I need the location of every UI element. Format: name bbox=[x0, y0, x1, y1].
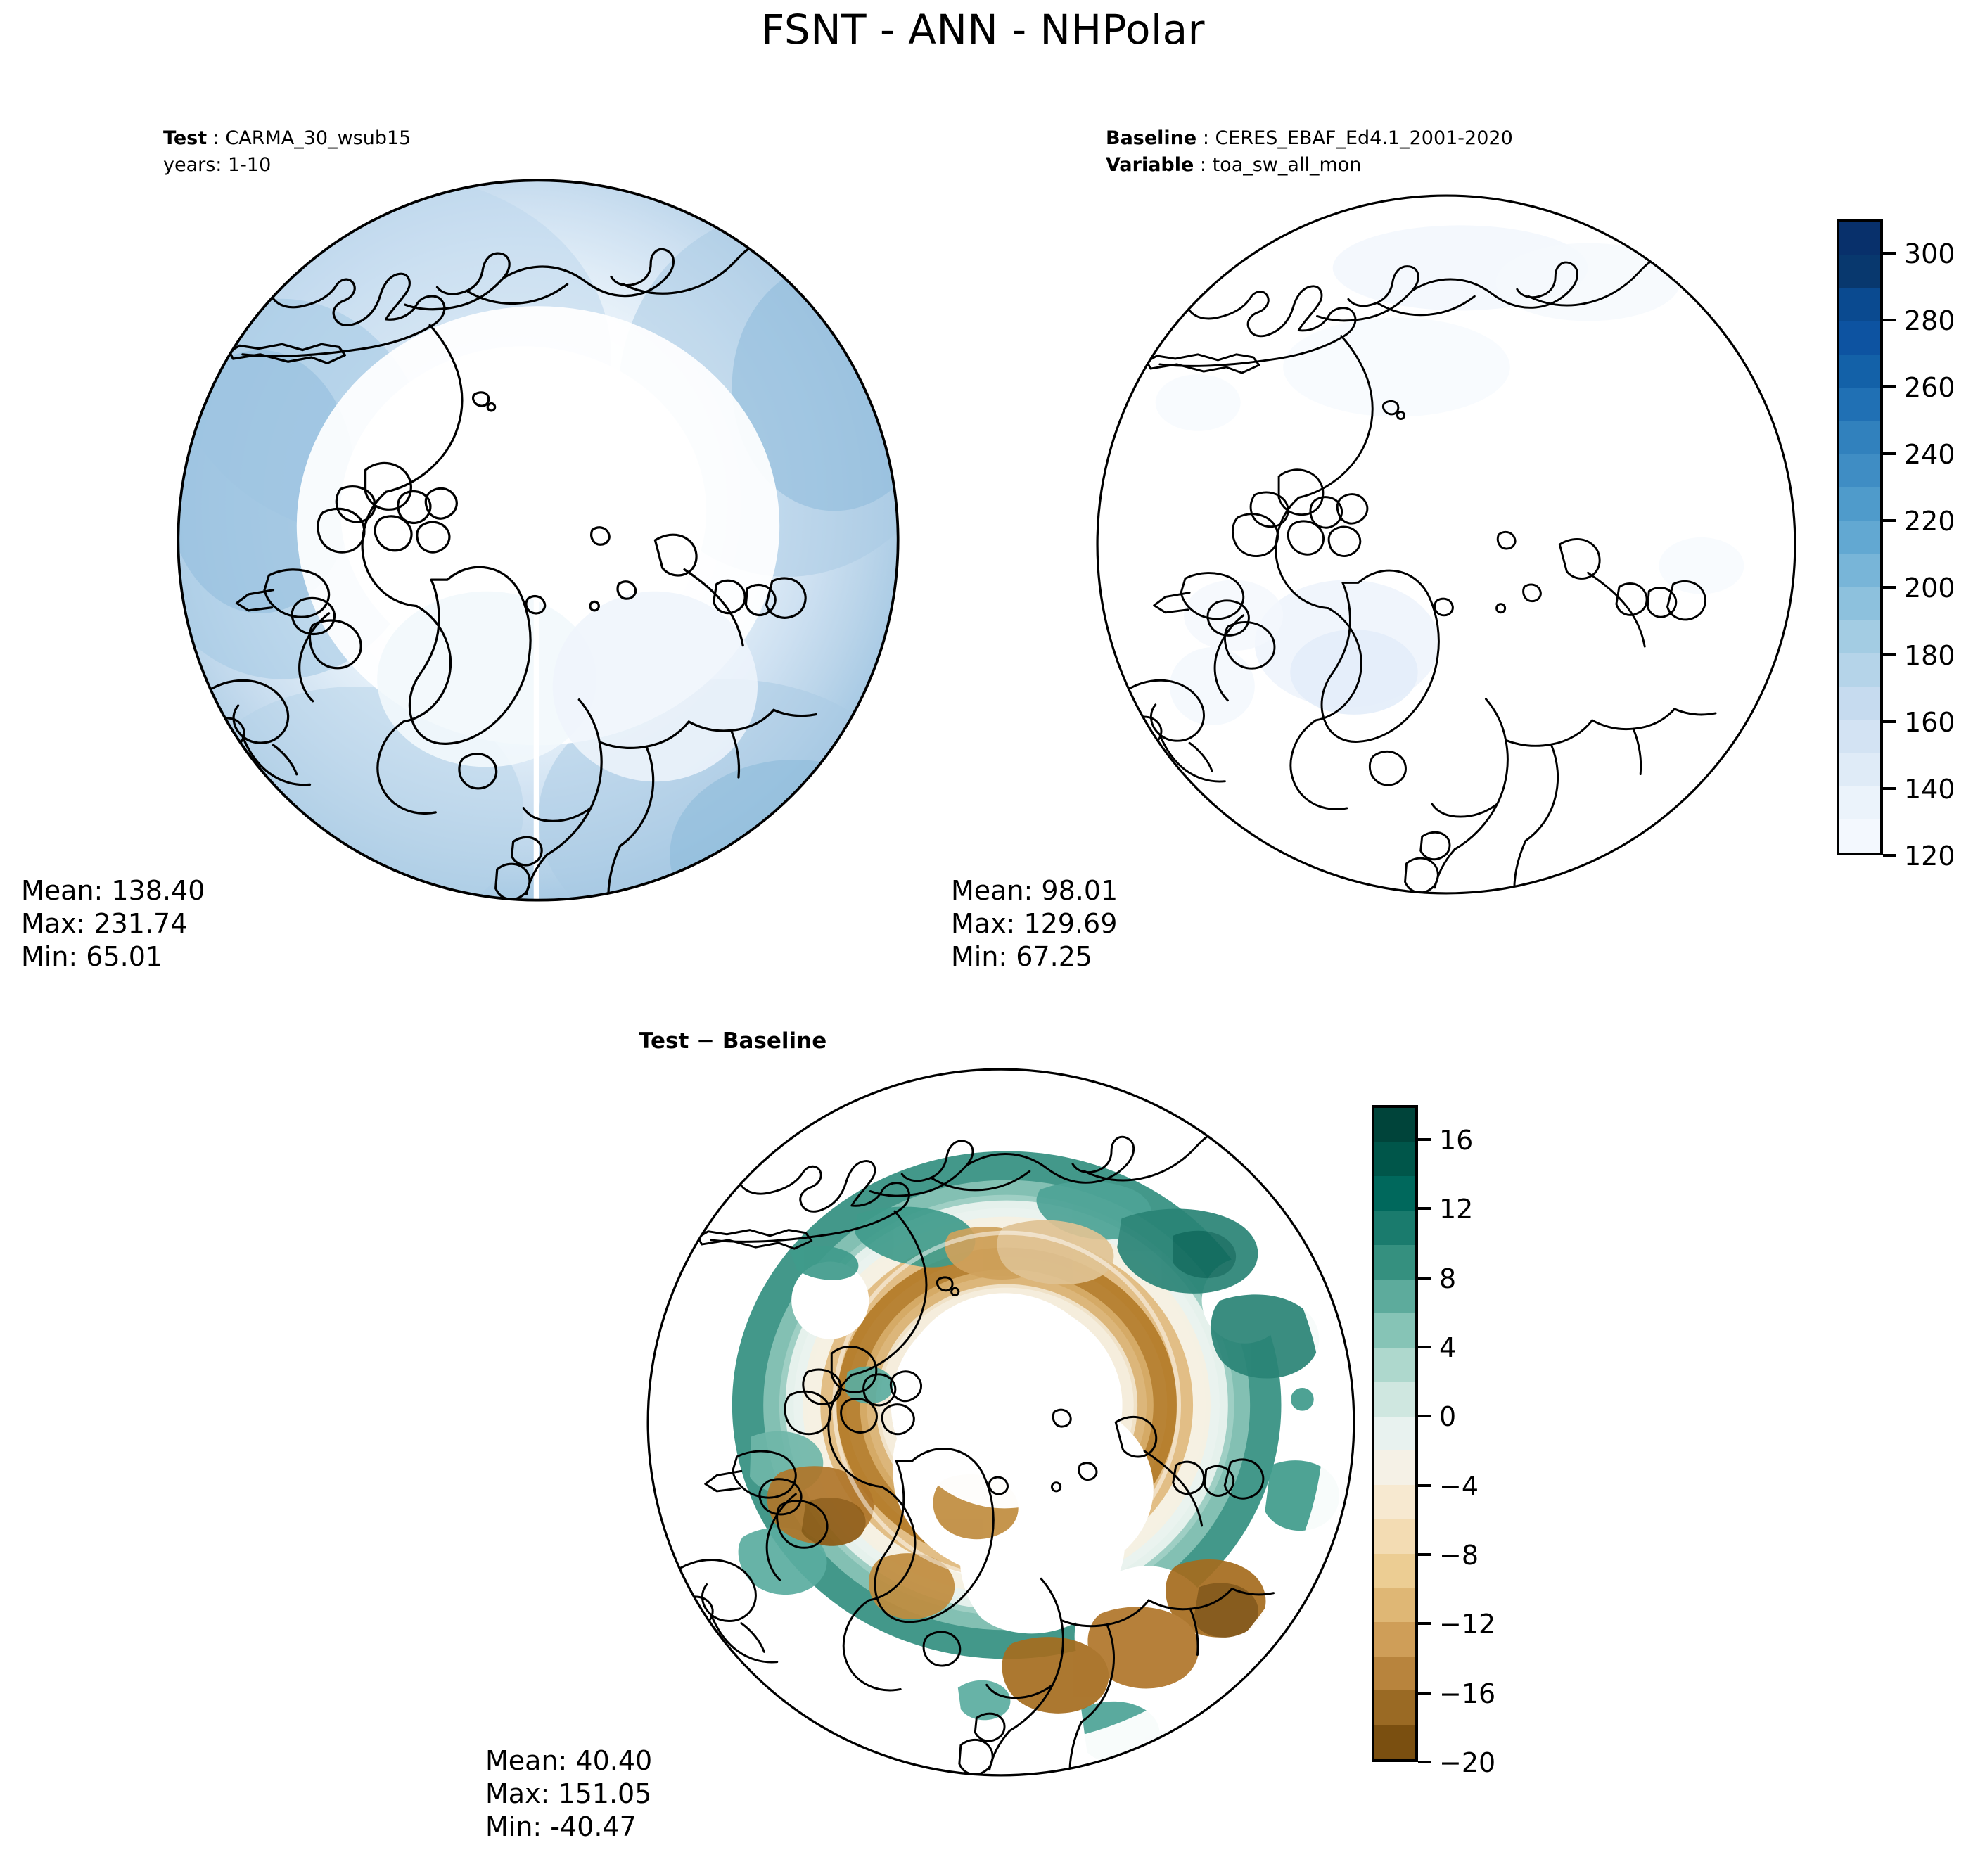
baseline-variable-sep: : bbox=[1194, 154, 1212, 176]
colorbar-tick-label: −20 bbox=[1439, 1749, 1495, 1776]
colorbar-tick-mark bbox=[1883, 319, 1896, 321]
colorbar-tick-mark bbox=[1883, 653, 1896, 656]
colorbar-tick-label: 180 bbox=[1904, 642, 1955, 669]
colorbar-band bbox=[1374, 1211, 1415, 1245]
page-title: FSNT - ANN - NHPolar bbox=[0, 6, 1966, 53]
colorbar-band bbox=[1374, 1725, 1415, 1759]
colorbar-diff-bar bbox=[1372, 1105, 1418, 1762]
colorbar-band bbox=[1374, 1622, 1415, 1657]
baseline-variable-value: toa_sw_all_mon bbox=[1213, 154, 1362, 176]
colorbar-band bbox=[1839, 255, 1880, 288]
colorbar-band bbox=[1374, 1108, 1415, 1142]
stats-baseline-min: Min: 67.25 bbox=[951, 940, 1118, 974]
colorbar-tick-label: 0 bbox=[1439, 1403, 1456, 1430]
baseline-header-sep: : bbox=[1196, 127, 1215, 149]
map-diff-panel bbox=[642, 1064, 1360, 1781]
colorbar-band bbox=[1839, 753, 1880, 786]
colorbar-band bbox=[1839, 421, 1880, 454]
map-baseline-panel bbox=[1092, 190, 1801, 899]
colorbar-diff[interactable]: 1612840−4−8−12−16−20 bbox=[1372, 1105, 1418, 1762]
colorbar-band bbox=[1839, 687, 1880, 720]
colorbar-tick-mark bbox=[1883, 385, 1896, 388]
colorbar-tick-label: −4 bbox=[1439, 1473, 1479, 1500]
colorbar-tick-mark bbox=[1418, 1138, 1431, 1141]
map-baseline-svg bbox=[1092, 190, 1801, 899]
colorbar-band bbox=[1839, 388, 1880, 421]
colorbar-band bbox=[1839, 321, 1880, 355]
colorbar-tick-label: −12 bbox=[1439, 1611, 1495, 1638]
colorbar-tick-mark bbox=[1883, 720, 1896, 723]
colorbar-band bbox=[1839, 487, 1880, 521]
diff-panel-subtitle: Test − Baseline bbox=[639, 1028, 826, 1054]
colorbar-tick-label: 220 bbox=[1904, 508, 1955, 535]
colorbar-band bbox=[1839, 355, 1880, 388]
colorbar-tick-mark bbox=[1883, 586, 1896, 589]
colorbar-band bbox=[1374, 1588, 1415, 1622]
colorbar-diff-ticks: 1612840−4−8−12−16−20 bbox=[1418, 1105, 1545, 1762]
colorbar-tick-label: 200 bbox=[1904, 575, 1955, 601]
colorbar-band bbox=[1839, 288, 1880, 321]
baseline-header-value: CERES_EBAF_Ed4.1_2001-2020 bbox=[1215, 127, 1513, 149]
colorbar-tick-mark bbox=[1883, 252, 1896, 255]
test-header-value: CARMA_30_wsub15 bbox=[225, 127, 411, 149]
baseline-header-label: Baseline bbox=[1106, 127, 1196, 149]
colorbar-band bbox=[1374, 1690, 1415, 1725]
colorbar-band bbox=[1374, 1142, 1415, 1177]
colorbar-tick-label: 280 bbox=[1904, 307, 1955, 334]
colorbar-band bbox=[1374, 1176, 1415, 1211]
colorbar-tick-mark bbox=[1418, 1484, 1431, 1487]
baseline-panel-header: Baseline : CERES_EBAF_Ed4.1_2001-2020 Va… bbox=[1106, 125, 1513, 179]
colorbar-band bbox=[1374, 1313, 1415, 1348]
stats-test-max: Max: 231.74 bbox=[21, 907, 205, 940]
colorbar-tick-label: 12 bbox=[1439, 1196, 1473, 1223]
colorbar-tick-mark bbox=[1418, 1761, 1431, 1763]
colorbar-band bbox=[1374, 1485, 1415, 1519]
colorbar-band bbox=[1839, 554, 1880, 587]
stats-diff-max: Max: 151.05 bbox=[485, 1778, 652, 1811]
colorbar-tick-label: 16 bbox=[1439, 1127, 1473, 1154]
colorbar-tick-mark bbox=[1418, 1346, 1431, 1348]
colorbar-tick-label: 120 bbox=[1904, 843, 1955, 869]
colorbar-tick-mark bbox=[1418, 1207, 1431, 1210]
colorbar-band bbox=[1374, 1519, 1415, 1554]
baseline-variable-line: Variable : toa_sw_all_mon bbox=[1106, 152, 1513, 179]
colorbar-band bbox=[1839, 720, 1880, 753]
colorbar-band bbox=[1374, 1554, 1415, 1588]
colorbar-tick-label: 300 bbox=[1904, 241, 1955, 267]
colorbar-tick-label: 8 bbox=[1439, 1265, 1456, 1292]
baseline-header-line: Baseline : CERES_EBAF_Ed4.1_2001-2020 bbox=[1106, 125, 1513, 152]
colorbar-band bbox=[1839, 521, 1880, 554]
colorbar-band bbox=[1374, 1417, 1415, 1451]
stats-baseline-max: Max: 129.69 bbox=[951, 907, 1118, 940]
colorbar-main[interactable]: 300280260240220200180160140120 bbox=[1837, 219, 1883, 855]
colorbar-band bbox=[1839, 819, 1880, 853]
colorbar-band bbox=[1374, 1280, 1415, 1314]
colorbar-tick-label: −8 bbox=[1439, 1542, 1479, 1569]
colorbar-band bbox=[1374, 1348, 1415, 1382]
colorbar-main-bar bbox=[1837, 219, 1883, 855]
stats-baseline: Mean: 98.01 Max: 129.69 Min: 67.25 bbox=[951, 874, 1118, 974]
test-header-label: Test bbox=[163, 127, 207, 149]
colorbar-band bbox=[1374, 1245, 1415, 1280]
colorbar-tick-mark bbox=[1418, 1622, 1431, 1625]
colorbar-tick-label: 240 bbox=[1904, 441, 1955, 468]
stats-diff: Mean: 40.40 Max: 151.05 Min: -40.47 bbox=[485, 1744, 652, 1844]
colorbar-band bbox=[1839, 620, 1880, 653]
colorbar-main-ticks: 300280260240220200180160140120 bbox=[1883, 219, 1966, 855]
colorbar-tick-mark bbox=[1883, 854, 1896, 857]
map-diff-svg bbox=[642, 1064, 1360, 1781]
baseline-variable-label: Variable bbox=[1106, 154, 1194, 176]
colorbar-tick-label: 4 bbox=[1439, 1334, 1456, 1361]
map-test-panel bbox=[172, 174, 904, 906]
stats-diff-mean: Mean: 40.40 bbox=[485, 1744, 652, 1778]
map-baseline-fill bbox=[1097, 196, 1795, 893]
colorbar-band bbox=[1374, 1657, 1415, 1691]
colorbar-tick-mark bbox=[1418, 1277, 1431, 1280]
test-header-sep: : bbox=[207, 127, 225, 149]
colorbar-band bbox=[1839, 653, 1880, 687]
colorbar-tick-mark bbox=[1883, 452, 1896, 455]
stats-test-min: Min: 65.01 bbox=[21, 940, 205, 974]
test-panel-header: Test : CARMA_30_wsub15 years: 1-10 bbox=[163, 125, 411, 179]
colorbar-band bbox=[1839, 587, 1880, 620]
colorbar-tick-label: 260 bbox=[1904, 374, 1955, 401]
colorbar-band bbox=[1839, 222, 1880, 255]
stats-diff-min: Min: -40.47 bbox=[485, 1811, 652, 1844]
test-header-line: Test : CARMA_30_wsub15 bbox=[163, 125, 411, 152]
colorbar-band bbox=[1374, 1450, 1415, 1485]
colorbar-tick-mark bbox=[1883, 519, 1896, 522]
colorbar-tick-label: −16 bbox=[1439, 1680, 1495, 1707]
colorbar-tick-mark bbox=[1418, 1553, 1431, 1556]
colorbar-tick-mark bbox=[1883, 787, 1896, 790]
map-test-svg bbox=[172, 174, 904, 906]
colorbar-tick-label: 140 bbox=[1904, 776, 1955, 803]
colorbar-band bbox=[1839, 454, 1880, 487]
figure-canvas: FSNT - ANN - NHPolar Test : CARMA_30_wsu… bbox=[0, 0, 1966, 1876]
map-test-fill bbox=[172, 174, 904, 906]
stats-test: Mean: 138.40 Max: 231.74 Min: 65.01 bbox=[21, 874, 205, 974]
stats-test-mean: Mean: 138.40 bbox=[21, 874, 205, 907]
map-diff-fill bbox=[642, 1064, 1360, 1781]
colorbar-band bbox=[1374, 1382, 1415, 1417]
colorbar-tick-label: 160 bbox=[1904, 709, 1955, 736]
colorbar-tick-mark bbox=[1418, 1415, 1431, 1417]
colorbar-tick-mark bbox=[1418, 1692, 1431, 1695]
stats-baseline-mean: Mean: 98.01 bbox=[951, 874, 1118, 907]
colorbar-band bbox=[1839, 786, 1880, 819]
